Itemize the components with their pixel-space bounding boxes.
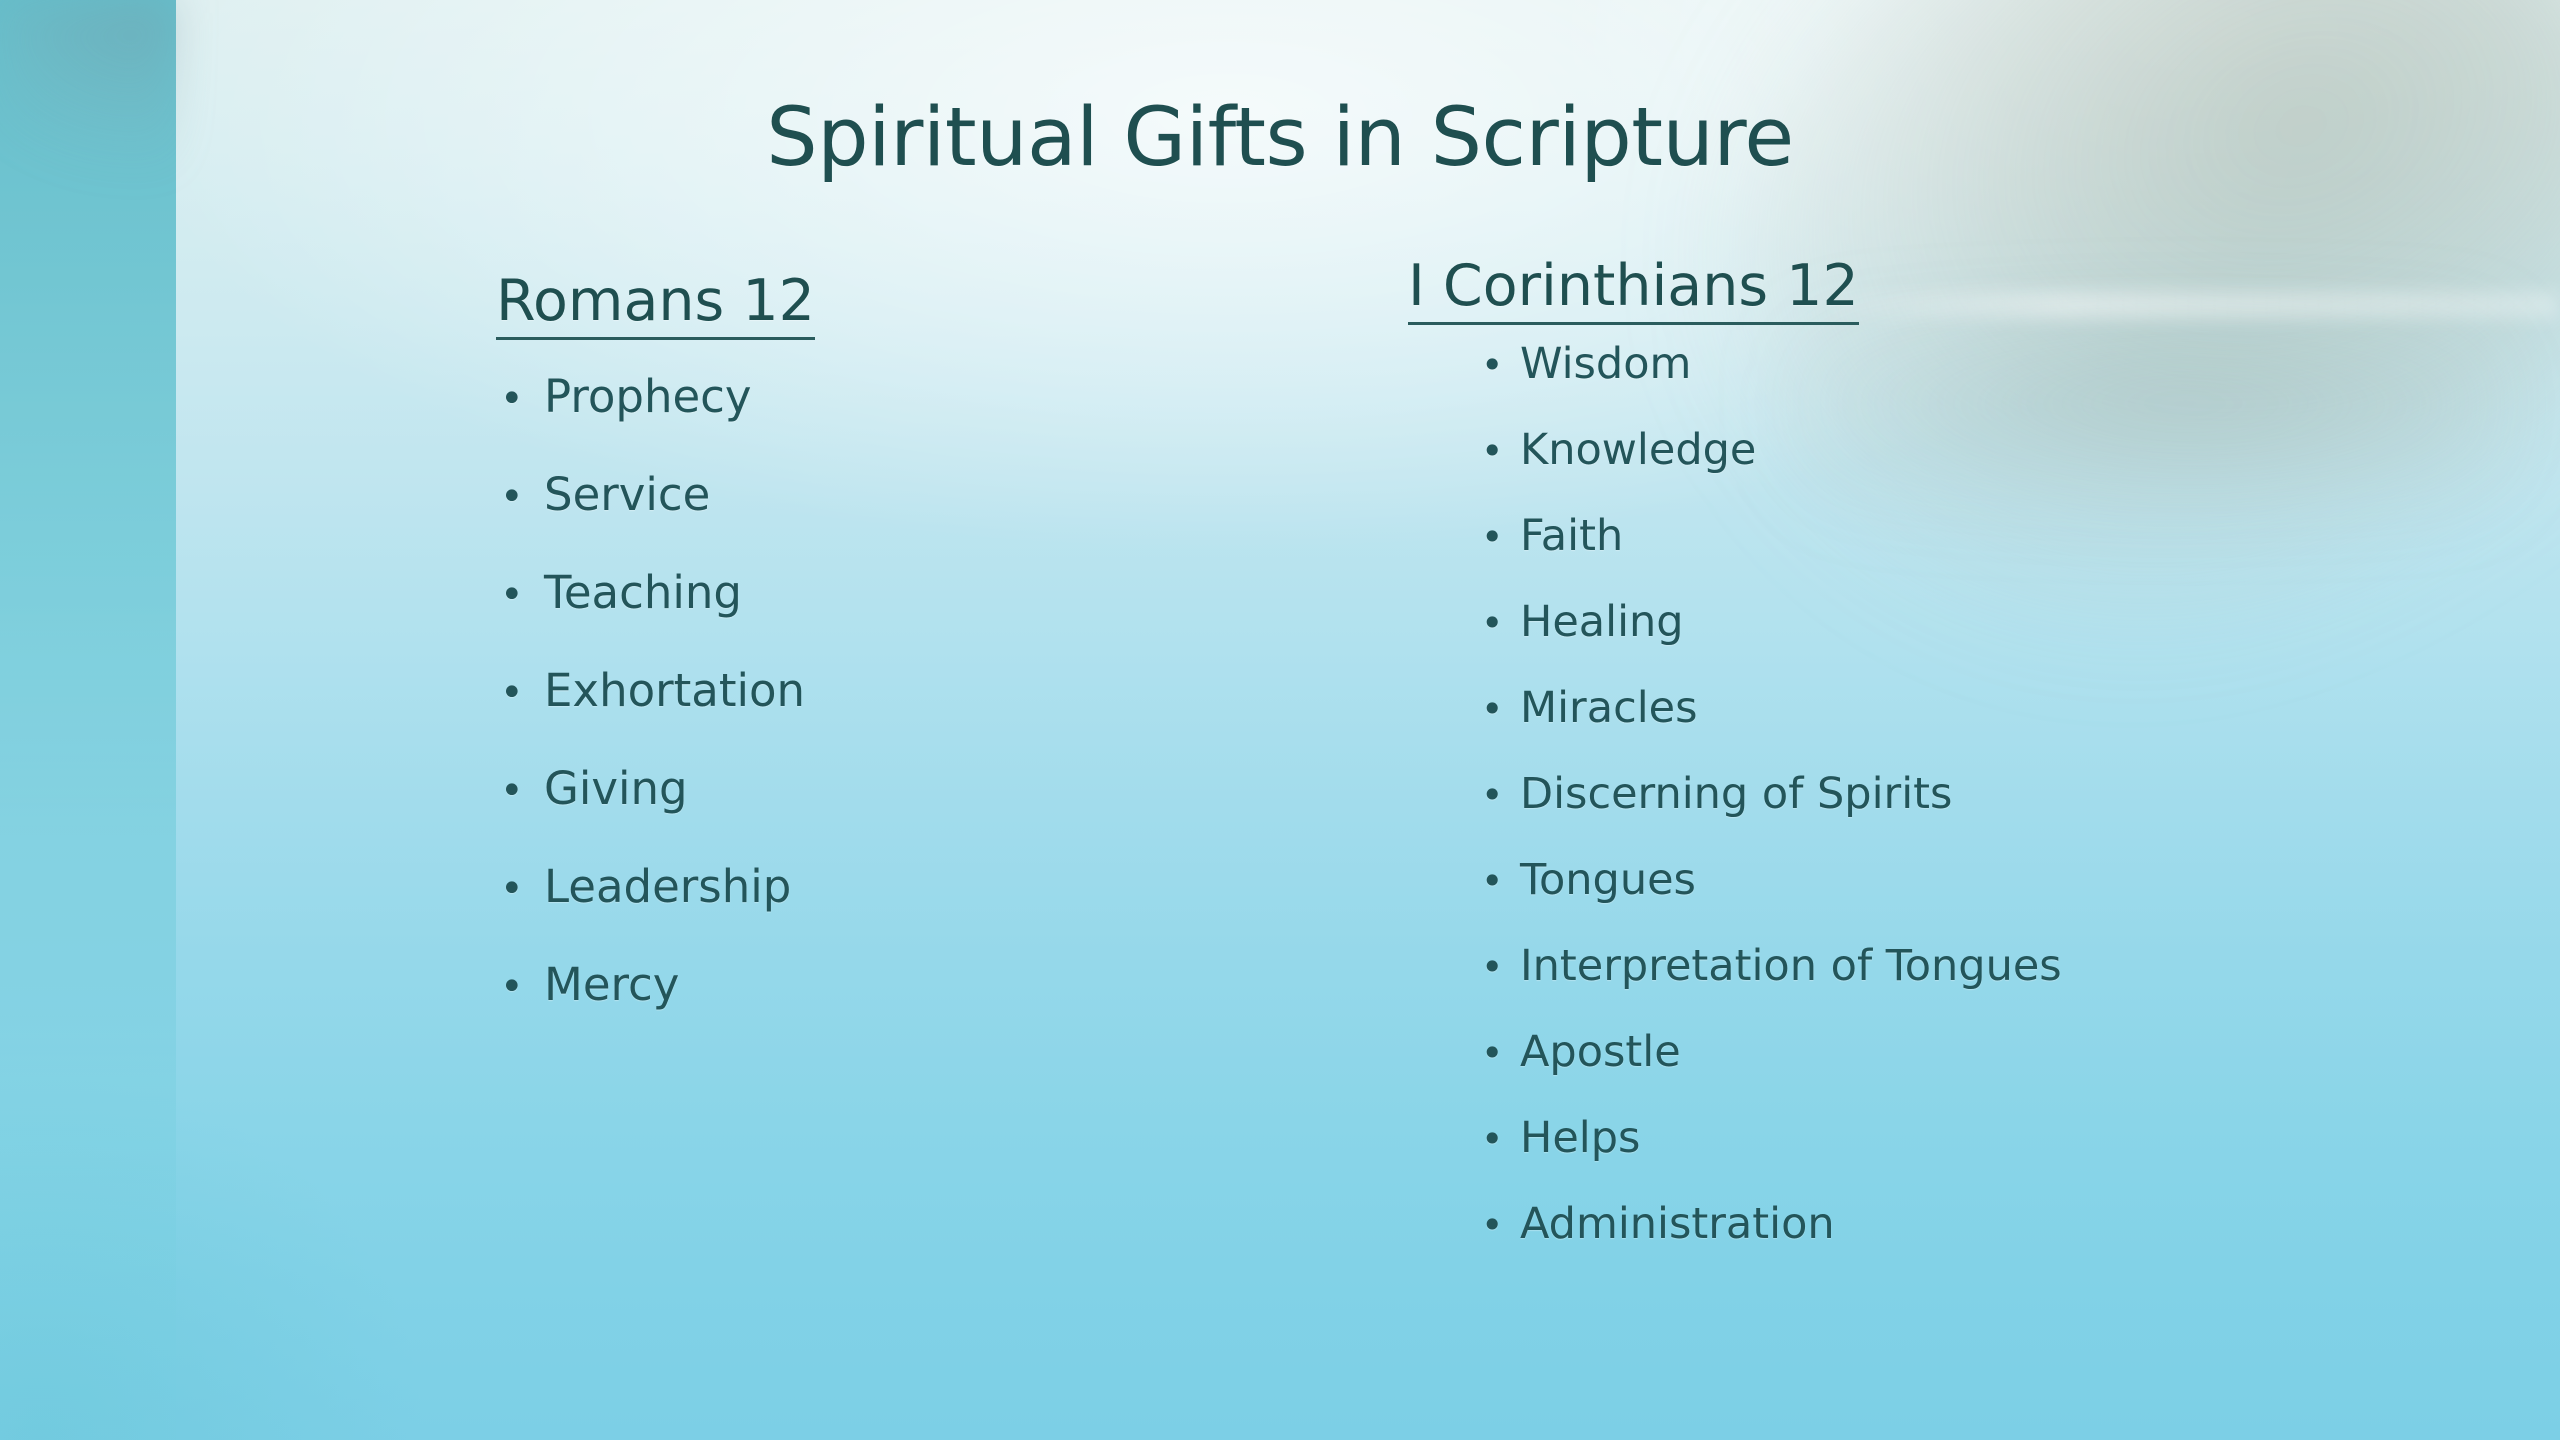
bullet-point-icon: • (500, 575, 544, 615)
list-item: • Mercy (500, 962, 1170, 1060)
list-item: • Giving (500, 766, 1170, 864)
list-item-label: Mercy (544, 962, 679, 1007)
list-item: • Discerning of Spirits (1481, 773, 2308, 859)
bullet-point-icon: • (1481, 432, 1520, 470)
list-item: • Interpretation of Tongues (1481, 945, 2308, 1031)
list-item: • Miracles (1481, 687, 2308, 773)
list-item-label: Wisdom (1520, 343, 1691, 386)
bullet-point-icon: • (1481, 604, 1520, 642)
list-item-label: Service (544, 472, 710, 517)
list-item-label: Helps (1520, 1117, 1640, 1160)
bullet-point-icon: • (1481, 1206, 1520, 1244)
list-item: • Teaching (500, 570, 1170, 668)
list-item: • Tongues (1481, 859, 2308, 945)
bullet-point-icon: • (500, 967, 544, 1007)
list-item-label: Giving (544, 766, 688, 811)
list-item: • Healing (1481, 601, 2308, 687)
list-item-label: Administration (1520, 1203, 1835, 1246)
bullet-point-icon: • (1481, 346, 1520, 384)
bullet-point-icon: • (1481, 518, 1520, 556)
list-item-label: Miracles (1520, 687, 1698, 730)
list-item: • Service (500, 472, 1170, 570)
bullet-point-icon: • (500, 379, 544, 419)
list-item-label: Prophecy (544, 374, 752, 419)
list-item-label: Healing (1520, 601, 1684, 644)
column-i-corinthians-12: I Corinthians 12 • Wisdom • Knowledge • … (1408, 255, 2308, 1289)
list-item-label: Interpretation of Tongues (1520, 945, 2062, 988)
list-item: • Prophecy (500, 374, 1170, 472)
bullet-point-icon: • (500, 673, 544, 713)
list-item-label: Apostle (1520, 1031, 1681, 1074)
bullet-point-icon: • (1481, 690, 1520, 728)
presentation-slide: Spiritual Gifts in Scripture Romans 12 •… (0, 0, 2560, 1440)
bullet-point-icon: • (1481, 862, 1520, 900)
list-item-label: Teaching (544, 570, 742, 615)
list-item-label: Leadership (544, 864, 791, 909)
list-item-label: Discerning of Spirits (1520, 773, 1952, 816)
column-heading-romans-12: Romans 12 (496, 270, 815, 340)
list-item: • Exhortation (500, 668, 1170, 766)
list-item: • Apostle (1481, 1031, 2308, 1117)
bullet-list-romans-12: • Prophecy • Service • Teaching • Exhort… (500, 374, 1170, 1060)
bullet-point-icon: • (500, 869, 544, 909)
column-heading-i-corinthians-12: I Corinthians 12 (1408, 255, 1859, 325)
list-item: • Knowledge (1481, 429, 2308, 515)
bullet-point-icon: • (500, 771, 544, 811)
list-item: • Helps (1481, 1117, 2308, 1203)
slide-title: Spiritual Gifts in Scripture (0, 96, 2560, 182)
list-item-label: Knowledge (1520, 429, 1756, 472)
list-item: • Administration (1481, 1203, 2308, 1289)
list-item: • Wisdom (1481, 343, 2308, 429)
bullet-point-icon: • (1481, 1120, 1520, 1158)
list-item-label: Faith (1520, 515, 1623, 558)
bullet-point-icon: • (1481, 776, 1520, 814)
bullet-point-icon: • (1481, 1034, 1520, 1072)
list-item-label: Exhortation (544, 668, 805, 713)
column-romans-12: Romans 12 • Prophecy • Service • Teachin… (470, 270, 1170, 1060)
bullet-list-i-corinthians-12: • Wisdom • Knowledge • Faith • Healing • (1481, 343, 2308, 1289)
bullet-point-icon: • (1481, 948, 1520, 986)
list-item: • Faith (1481, 515, 2308, 601)
list-item: • Leadership (500, 864, 1170, 962)
list-item-label: Tongues (1520, 859, 1696, 902)
slide-content: Spiritual Gifts in Scripture Romans 12 •… (0, 0, 2560, 1440)
bullet-point-icon: • (500, 477, 544, 517)
